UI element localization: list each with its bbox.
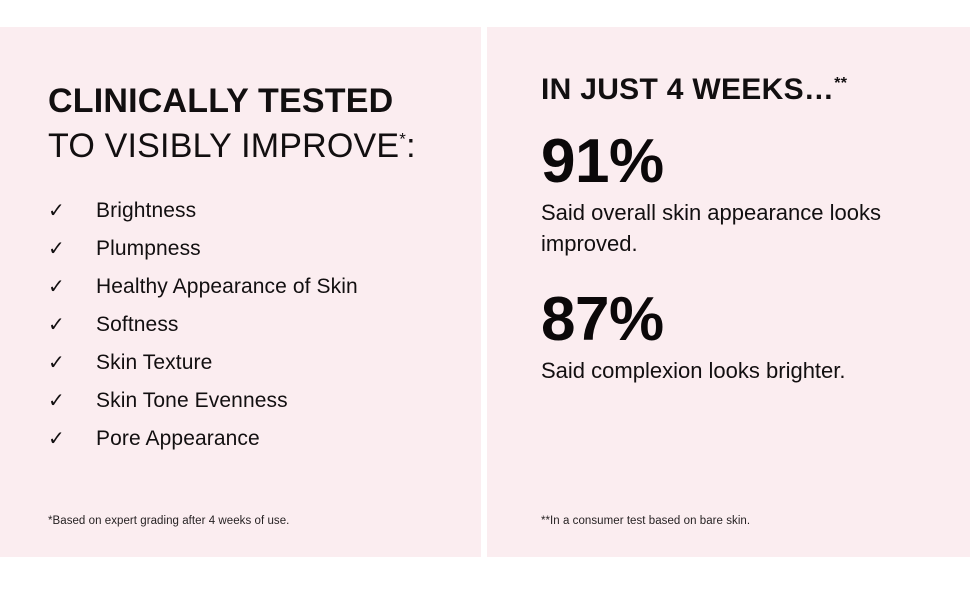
check-icon: ✓ [48,353,96,373]
list-item: ✓ Healthy Appearance of Skin [48,276,451,314]
benefits-list: ✓ Brightness ✓ Plumpness ✓ Healthy Appea… [48,200,451,466]
heading-line-primary: CLINICALLY TESTED [48,80,451,124]
check-icon: ✓ [48,315,96,335]
benefit-label: Brightness [96,200,196,221]
consumer-results-panel: IN JUST 4 WEEKS…** 91% Said overall skin… [487,27,970,557]
benefit-label: Softness [96,314,179,335]
list-item: ✓ Skin Texture [48,352,451,390]
stat-block: 91% Said overall skin appearance looks i… [541,130,940,260]
left-panel-footnote: *Based on expert grading after 4 weeks o… [48,515,289,527]
stat-value: 87% [541,288,940,351]
heading-line-secondary-text: TO VISIBLY IMPROVE [48,127,399,165]
benefit-label: Skin Texture [96,352,212,373]
list-item: ✓ Softness [48,314,451,352]
list-item: ✓ Plumpness [48,238,451,276]
results-title-text: IN JUST 4 WEEKS… [541,73,834,106]
results-title: IN JUST 4 WEEKS…** [541,72,940,108]
heading-colon: : [406,127,416,165]
footnote-marker-double-asterisk: ** [834,75,847,92]
clinical-claims-panel: CLINICALLY TESTED TO VISIBLY IMPROVE*: ✓… [0,27,481,557]
benefit-label: Plumpness [96,238,201,259]
right-panel-footnote: **In a consumer test based on bare skin. [541,515,750,527]
benefit-label: Pore Appearance [96,428,260,449]
stat-description: Said complexion looks brighter. [541,355,901,386]
check-icon: ✓ [48,239,96,259]
benefit-label: Skin Tone Evenness [96,390,288,411]
stat-value: 91% [541,130,940,193]
list-item: ✓ Skin Tone Evenness [48,390,451,428]
check-icon: ✓ [48,429,96,449]
check-icon: ✓ [48,201,96,221]
stat-block: 87% Said complexion looks brighter. [541,288,940,386]
claims-board: CLINICALLY TESTED TO VISIBLY IMPROVE*: ✓… [0,27,970,557]
list-item: ✓ Pore Appearance [48,428,451,466]
list-item: ✓ Brightness [48,200,451,238]
check-icon: ✓ [48,391,96,411]
heading-line-secondary: TO VISIBLY IMPROVE*: [48,124,451,168]
stat-description: Said overall skin appearance looks impro… [541,197,901,259]
benefit-label: Healthy Appearance of Skin [96,276,358,297]
page-title: CLINICALLY TESTED TO VISIBLY IMPROVE*: [48,80,451,168]
check-icon: ✓ [48,277,96,297]
